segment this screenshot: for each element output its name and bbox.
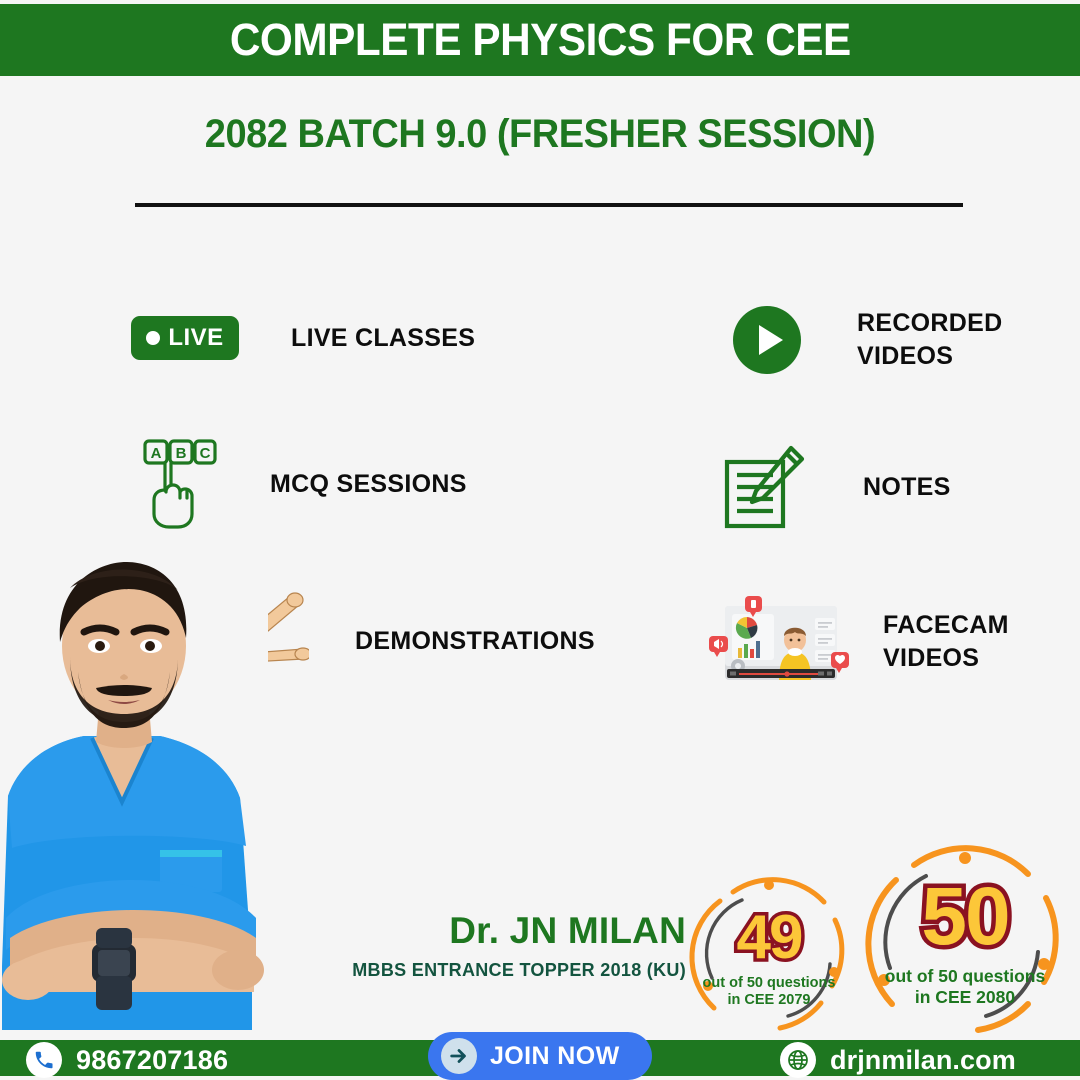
svg-text:A: A <box>151 445 162 462</box>
arrow-right-icon <box>448 1045 470 1067</box>
instructor-name-block: Dr. JN MILAN MBBS ENTRANCE TOPPER 2018 (… <box>326 912 686 981</box>
page-title: COMPLETE PHYSICS FOR CEE <box>230 14 851 66</box>
score-badge-2080: 50 out of 50 questions in CEE 2080 <box>856 840 1074 1040</box>
play-circle-icon <box>733 306 801 374</box>
score-number: 50 <box>921 876 1008 958</box>
score-badge-content: 49 out of 50 questions in CEE 2079 <box>684 868 854 1044</box>
phone-contact[interactable]: 9867207186 <box>26 1042 228 1078</box>
score-caption: out of 50 questions in CEE 2079 <box>703 975 836 1010</box>
live-badge-label: LIVE <box>168 324 223 352</box>
score-caption-line1: out of 50 questions <box>885 966 1045 987</box>
video-player-presenter-icon <box>705 592 855 692</box>
feature-label: FACECAM VIDEOS <box>883 609 1075 675</box>
hand-abc-choice-icon: A B C <box>142 438 218 530</box>
doctor-in-blue-scrubs-photo <box>0 546 268 1038</box>
promo-poster: COMPLETE PHYSICS FOR CEE 2082 BATCH 9.0 … <box>0 0 1080 1080</box>
divider <box>135 203 963 207</box>
website-link[interactable]: drjnmilan.com <box>780 1042 1016 1078</box>
feature-label: NOTES <box>863 471 951 504</box>
batch-subtitle: 2082 BATCH 9.0 (FRESHER SESSION) <box>27 112 1053 157</box>
instructor-name: Dr. JN MILAN <box>326 912 686 951</box>
note-pencil-icon-wrap <box>723 444 807 530</box>
score-badge-2079: 49 out of 50 questions in CEE 2079 <box>684 868 854 1040</box>
score-badge-content: 50 out of 50 questions in CEE 2080 <box>856 840 1074 1042</box>
feature-recorded-videos: RECORDED VIDEOS <box>733 295 1063 385</box>
feature-demonstrations: DEMONSTRATIONS <box>205 583 665 699</box>
svg-text:B: B <box>176 445 187 462</box>
score-number: 49 <box>737 907 802 969</box>
feature-label: MCQ SESSIONS <box>270 468 467 501</box>
phone-icon <box>33 1049 55 1071</box>
feature-label: RECORDED VIDEOS <box>857 307 1063 373</box>
score-caption-line2: in CEE 2080 <box>885 987 1045 1008</box>
score-caption-line2: in CEE 2079 <box>703 992 836 1009</box>
score-caption-line1: out of 50 questions <box>703 975 836 992</box>
header-bar: COMPLETE PHYSICS FOR CEE <box>0 4 1080 76</box>
live-dot-icon <box>146 331 160 345</box>
feature-label: DEMONSTRATIONS <box>355 625 595 658</box>
score-caption: out of 50 questions in CEE 2080 <box>885 966 1045 1008</box>
feature-facecam-videos: FACECAM VIDEOS <box>705 592 1075 692</box>
feature-live-classes: LIVE LIVE CLASSES <box>131 300 611 376</box>
join-now-button[interactable]: JOIN NOW <box>428 1032 652 1080</box>
arrow-right-icon-wrap <box>441 1038 477 1074</box>
globe-icon-wrap <box>780 1042 816 1078</box>
join-now-label: JOIN NOW <box>490 1042 620 1071</box>
play-circle-icon-wrap <box>733 306 801 374</box>
feature-mcq-sessions: A B C MCQ SESSIONS <box>142 438 622 530</box>
live-badge-icon-wrap: LIVE <box>131 316 239 360</box>
phone-number: 9867207186 <box>76 1045 228 1076</box>
hand-abc-choice-icon-wrap: A B C <box>142 438 218 530</box>
website-url: drjnmilan.com <box>830 1045 1016 1076</box>
instructor-photo <box>0 546 268 1038</box>
feature-label: LIVE CLASSES <box>291 322 475 355</box>
video-player-presenter-icon-wrap <box>705 592 855 692</box>
note-pencil-icon <box>723 444 807 530</box>
globe-icon <box>785 1047 811 1073</box>
phone-icon-wrap <box>26 1042 62 1078</box>
feature-notes: NOTES <box>723 444 1053 530</box>
play-triangle-icon <box>759 325 783 355</box>
svg-text:C: C <box>200 445 211 462</box>
live-badge-icon: LIVE <box>131 316 239 360</box>
instructor-credential: MBBS ENTRANCE TOPPER 2018 (KU) <box>326 960 686 981</box>
